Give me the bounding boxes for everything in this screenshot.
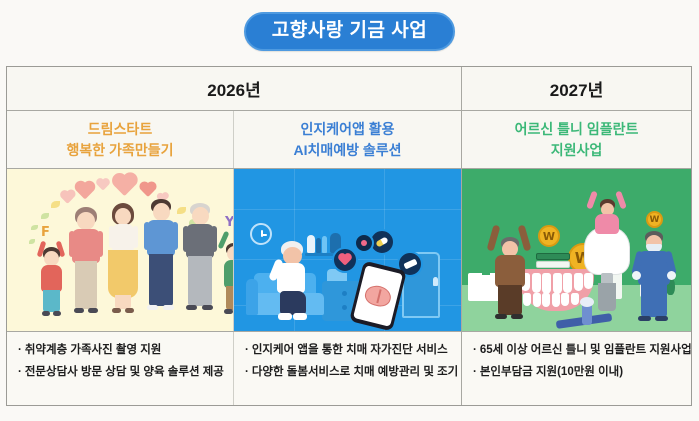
- arm: [69, 231, 75, 257]
- leaf-decoration: [31, 225, 38, 230]
- subtitle-senior-denture-implant: 어르신 틀니 임플란트 지원사업: [462, 111, 691, 168]
- cash-stack: [536, 253, 570, 260]
- head: [77, 212, 95, 230]
- coin-won: W: [538, 225, 560, 247]
- list-item: ·인지케어 앱을 통한 치매 자가진단 서비스: [245, 343, 452, 357]
- arm-raised: [487, 225, 501, 252]
- heart-health-icon: [332, 247, 358, 273]
- torso: [72, 229, 100, 263]
- bullet-marker: ·: [245, 344, 249, 356]
- bullet-marker: ·: [473, 366, 477, 378]
- legs: [641, 283, 667, 317]
- legs: [75, 261, 97, 309]
- arm-raised: [518, 225, 532, 252]
- arm-raised: [615, 191, 627, 210]
- year-header-2027: 2027년: [462, 67, 691, 110]
- tablet-glyph: [403, 259, 417, 270]
- legs: [188, 256, 212, 306]
- cabinet-knob: [342, 291, 347, 296]
- shoe: [278, 313, 292, 320]
- heart-icon: [97, 179, 108, 190]
- infographic-root: 고향사랑 기금 사업 2026년 2027년 드림스타트 행복한 가족만들기 인…: [0, 0, 699, 421]
- leaf-decoration: [29, 239, 35, 244]
- tooth: [553, 273, 562, 294]
- arm: [144, 222, 150, 250]
- bullets-dream-start: ·취약계층 가족사진 촬영 지원 ·전문상담사 방문 상담 및 양육 솔루션 제…: [7, 332, 234, 405]
- torso: [41, 265, 62, 292]
- bullet-text: 65세 이상 어르신 틀니 및 임플란트 지원사업: [480, 344, 692, 356]
- subtitle-dream-start: 드림스타트 행복한 가족만들기: [7, 111, 234, 168]
- head: [44, 251, 59, 266]
- shoe: [495, 314, 507, 319]
- table-year-header-row: 2026년 2027년: [7, 67, 691, 111]
- bullet-marker: ·: [245, 366, 249, 378]
- shoe: [53, 311, 61, 316]
- living-room-scene: [234, 169, 461, 331]
- subtitle-line-1: 어르신 틀니 임플란트: [515, 119, 639, 139]
- tooth: [533, 293, 541, 307]
- letter-F: F: [41, 225, 50, 240]
- glove: [632, 271, 641, 280]
- legs: [280, 291, 306, 315]
- shoe: [638, 316, 651, 321]
- table-bullet-row: ·취약계층 가족사진 촬영 지원 ·전문상담사 방문 상담 및 양육 솔루션 제…: [7, 332, 691, 405]
- torso: [147, 220, 175, 256]
- shoe: [511, 314, 523, 319]
- arm: [97, 231, 103, 257]
- smartphone: [349, 261, 407, 331]
- supplement-icon: [354, 233, 374, 253]
- person-child-right: Y: [220, 225, 234, 317]
- heart-icon: [114, 175, 135, 196]
- bullets-dental-implant: ·65세 이상 어르신 틀니 및 임플란트 지원사업 ·본인부담금 지원(10만…: [462, 332, 691, 405]
- person-on-tooth: [588, 191, 626, 235]
- shoe: [186, 305, 197, 310]
- leaf-decoration: [51, 201, 60, 208]
- tooth: [574, 273, 583, 291]
- bullet-text: 다양한 돌봄서비스로 치매 예방관리 및 조기 대응: [252, 366, 483, 378]
- dental-scene: W W W: [462, 169, 691, 331]
- heart-icon: [77, 183, 94, 200]
- legs: [115, 295, 131, 309]
- page-title: 고향사랑 기금 사업: [244, 12, 455, 51]
- coin-won: W: [646, 211, 663, 228]
- heart-glyph: [339, 254, 350, 265]
- bullet-text: 본인부담금 지원(10만원 이내): [480, 366, 623, 378]
- skirt: [108, 250, 138, 298]
- illustration-dental-implant: W W W: [462, 169, 691, 331]
- wall-clock-icon: [250, 223, 272, 245]
- leaf-decoration: [41, 213, 49, 219]
- shoe: [224, 309, 233, 314]
- tooth: [542, 273, 551, 294]
- illustration-family-photo: F A: [7, 169, 234, 331]
- head: [227, 246, 234, 261]
- hospital-cross-icon: [482, 267, 490, 275]
- cabinet-knob: [342, 305, 347, 310]
- head: [192, 207, 209, 225]
- person-senior-celebrating: [490, 225, 530, 321]
- year-header-2026: 2026년: [7, 67, 462, 110]
- table-illustration-row: F A: [7, 169, 691, 332]
- person-grandfather: L: [183, 203, 217, 317]
- person-father: I: [144, 199, 178, 317]
- tooth: [561, 293, 569, 306]
- person-mother: M: [107, 203, 139, 317]
- legs: [498, 285, 522, 315]
- tooth: [584, 273, 593, 289]
- torso: [112, 224, 134, 252]
- torso: [186, 224, 214, 258]
- illustration-cognitive-care: [234, 169, 462, 331]
- torso: [224, 260, 234, 288]
- list-item: ·전문상담사 방문 상담 및 양육 솔루션 제공: [18, 365, 224, 379]
- legs: [226, 286, 234, 310]
- bullet-marker: ·: [473, 344, 477, 356]
- denture-teeth-row: [521, 273, 593, 294]
- tooth: [532, 273, 541, 293]
- bullets-cognitive-care: ·인지케어 앱을 통한 치매 자가진단 서비스 ·다양한 돌봄서비스로 치매 예…: [234, 332, 462, 405]
- sofa-arm: [246, 279, 258, 315]
- head: [115, 208, 131, 225]
- legs: [149, 254, 173, 306]
- subtitle-line-1: 드림스타트: [88, 119, 152, 139]
- door-handle: [433, 277, 438, 286]
- table-subtitle-row: 드림스타트 행복한 가족만들기 인지케어앱 활용 AI치매예방 솔루션 어르신 …: [7, 111, 691, 169]
- heart-icon: [61, 191, 74, 204]
- shoe: [655, 316, 668, 321]
- family-scene: F A: [7, 169, 233, 331]
- arm: [109, 226, 114, 248]
- denture-teeth-row-lower: [523, 293, 579, 307]
- shoe: [163, 305, 174, 310]
- list-item: ·본인부담금 지원(10만원 이내): [473, 365, 682, 379]
- bullet-marker: ·: [18, 344, 22, 356]
- shoe: [42, 311, 50, 316]
- shoe: [74, 308, 84, 313]
- bullet-text: 인지케어 앱을 통한 치매 자가진단 서비스: [252, 344, 448, 356]
- subtitle-line-2: AI치매예방 솔루션: [293, 140, 401, 160]
- legs: [43, 290, 60, 312]
- subtitle-line-2: 지원사업: [551, 140, 603, 160]
- brain-icon: [363, 283, 393, 309]
- capsule-glyph: [375, 236, 388, 247]
- head: [153, 203, 170, 221]
- tooth: [542, 293, 550, 307]
- arm: [133, 226, 138, 248]
- shoe: [293, 313, 307, 320]
- person-elderly: [272, 241, 316, 321]
- subtitle-line-2: 행복한 가족만들기: [67, 140, 174, 160]
- implant-screw: [598, 283, 616, 311]
- arm: [211, 226, 217, 252]
- book: [322, 236, 327, 253]
- dental-tool-head: [580, 297, 594, 307]
- cash-stack: [536, 261, 570, 268]
- tooth: [571, 293, 579, 305]
- person-dentist: [634, 231, 674, 323]
- letter-Y: Y: [225, 215, 234, 230]
- bullet-text: 전문상담사 방문 상담 및 양육 솔루션 제공: [25, 366, 224, 378]
- tooth: [563, 273, 572, 293]
- bullet-text: 취약계층 가족사진 촬영 지원: [25, 344, 162, 356]
- grid-line: [234, 209, 461, 210]
- arm: [183, 226, 189, 252]
- dot-glyph: [361, 240, 367, 246]
- person-child-left: F: [37, 231, 67, 317]
- shoe: [112, 308, 121, 313]
- clock-hand: [261, 234, 267, 236]
- torso: [595, 214, 619, 234]
- phone-screen: [353, 265, 403, 327]
- tooth: [552, 293, 560, 307]
- list-item: ·65세 이상 어르신 틀니 및 임플란트 지원사업: [473, 343, 682, 357]
- shoe: [125, 308, 134, 313]
- subtitle-line-1: 인지케어앱 활용: [300, 119, 394, 139]
- shoe: [202, 305, 213, 310]
- glove: [667, 271, 676, 280]
- book: [316, 238, 321, 253]
- shoe: [147, 305, 158, 310]
- heart-icon: [141, 183, 155, 197]
- subtitle-cognitive-care-app: 인지케어앱 활용 AI치매예방 솔루션: [234, 111, 462, 168]
- title-bar: 고향사랑 기금 사업: [0, 12, 699, 51]
- arm: [172, 222, 178, 250]
- shoe: [88, 308, 98, 313]
- list-item: ·취약계층 가족사진 촬영 지원: [18, 343, 224, 357]
- program-table: 2026년 2027년 드림스타트 행복한 가족만들기 인지케어앱 활용 AI치…: [6, 66, 692, 406]
- arm-raised: [586, 191, 598, 210]
- list-item: ·다양한 돌봄서비스로 치매 예방관리 및 조기 대응: [245, 365, 452, 379]
- person-grandmother: A: [69, 207, 103, 317]
- torso: [495, 255, 525, 287]
- bullet-marker: ·: [18, 366, 22, 378]
